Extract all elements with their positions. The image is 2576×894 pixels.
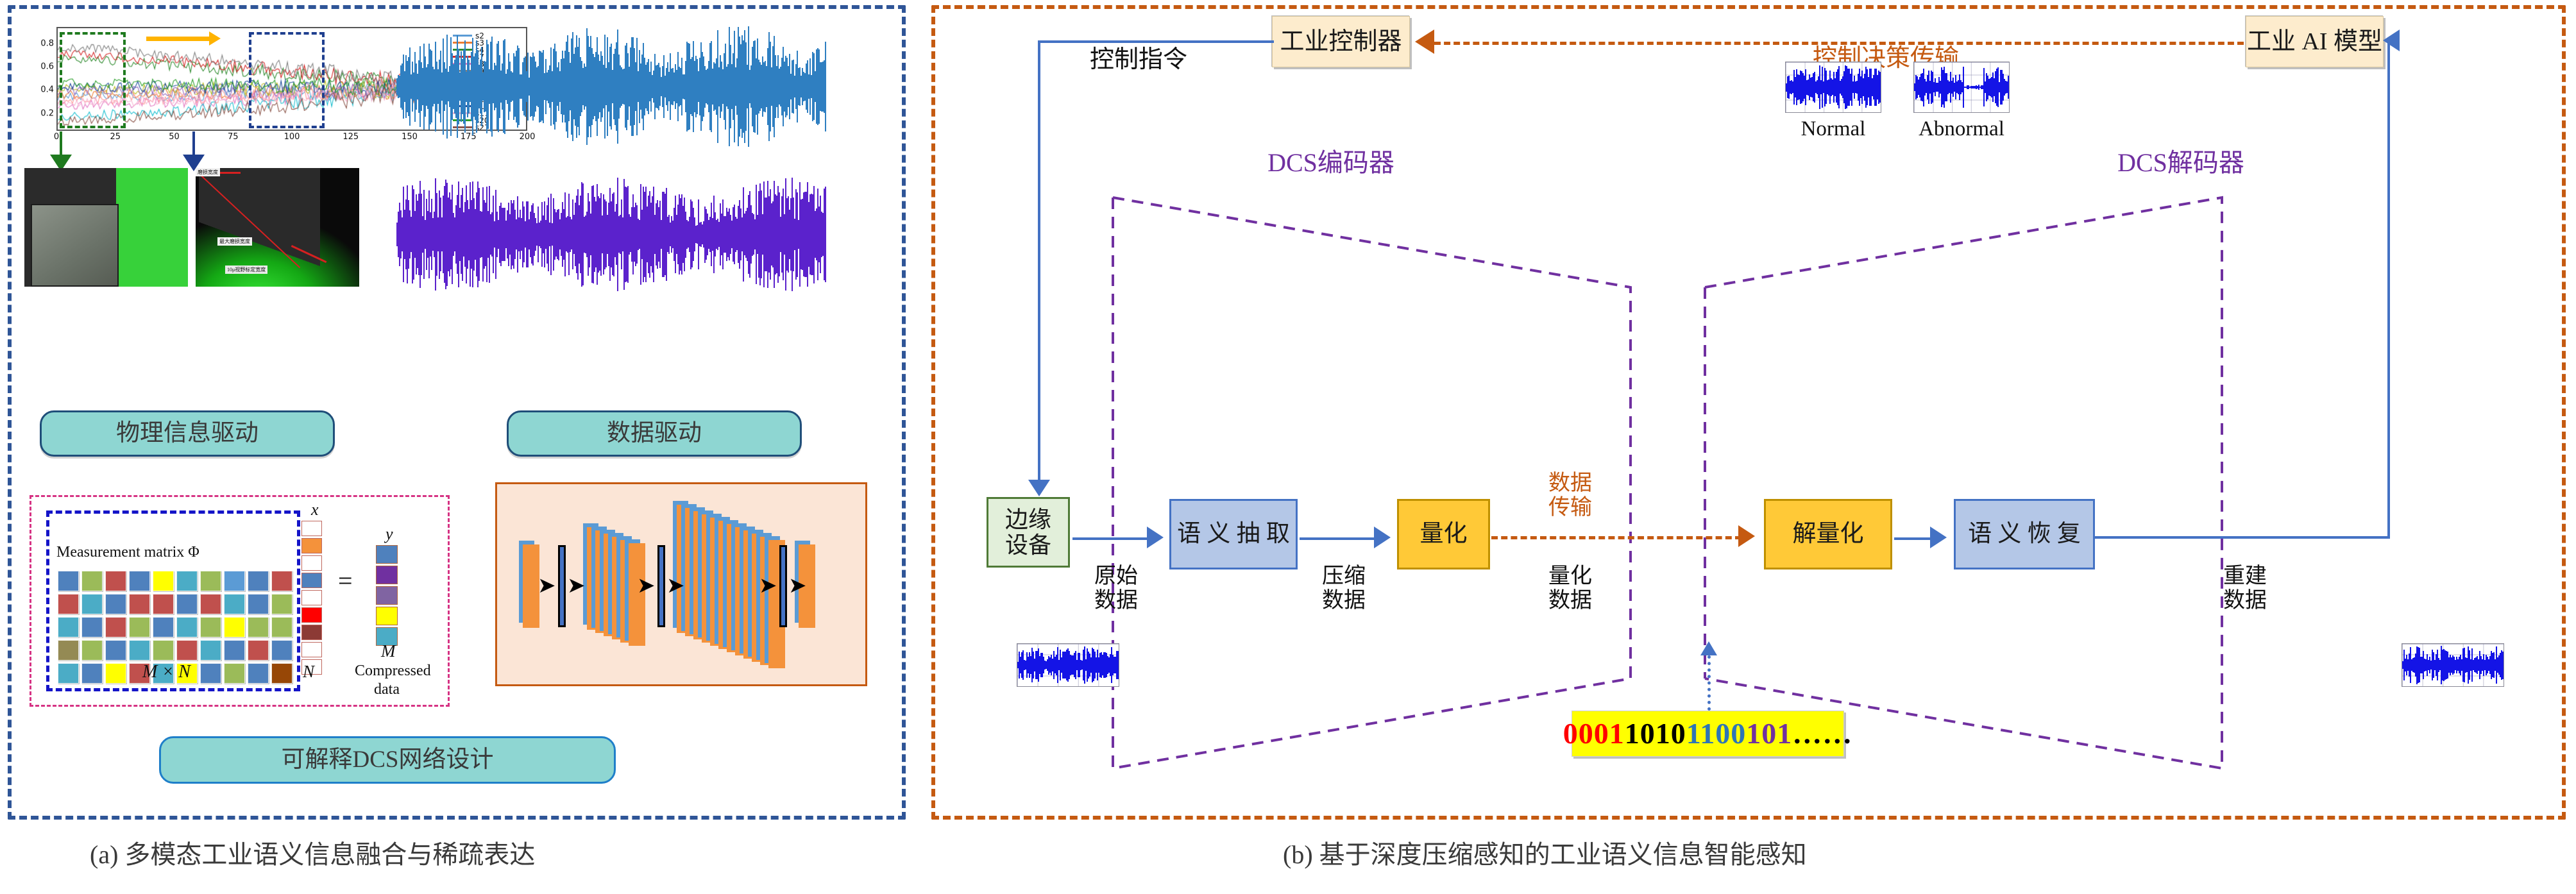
matrix-cell: [81, 594, 103, 614]
abnormal-waveform-thumb: [1913, 62, 2010, 113]
chart-x-tick: 0: [54, 132, 59, 142]
matrix-cell: [248, 594, 269, 614]
matrix-cell: [200, 663, 221, 684]
control-command-flow-horizontal: [1038, 40, 1274, 43]
measurement-matrix-dims: M × N: [142, 662, 191, 682]
matrix-cell: [224, 640, 245, 661]
matrix-cell: [271, 663, 292, 684]
label-dcs-encoder: DCS编码器: [1241, 149, 1421, 178]
normal-waveform-thumb: [1785, 62, 1881, 113]
extract-to-quantize-line: [1300, 537, 1375, 540]
matrix-cell: [129, 571, 150, 591]
label-reconstructed-data: 重建 数据: [2207, 564, 2284, 613]
chart-x-tick: 25: [110, 132, 121, 142]
chart-y-tick: 0.6: [40, 62, 54, 72]
chart-y-tick: 0.2: [40, 108, 54, 118]
label-data-transmission: 数据 传输: [1532, 471, 1609, 520]
nn-layer-bar: [558, 545, 566, 627]
quantization-box[interactable]: 量化: [1397, 499, 1490, 569]
label-control-command: 控制指令: [1055, 46, 1222, 74]
raw-signal-thumb: [1017, 643, 1119, 687]
matrix-cell: [176, 571, 198, 591]
m-label: M: [381, 641, 396, 661]
control-decision-flow: [1434, 42, 2244, 45]
matrix-cell: [248, 640, 269, 661]
matrix-cell: [129, 617, 150, 637]
matrix-cell: [176, 640, 198, 661]
degradation-trend-arrowhead: [209, 31, 221, 46]
label-dcs-network-design: 可解释DCS网络设计: [159, 736, 616, 784]
waveform-trace: [2402, 644, 2504, 686]
matrix-cell: [105, 663, 126, 684]
data-transmission-link: [1491, 536, 1741, 539]
matrix-cell: [81, 640, 103, 661]
matrix-cell: [105, 640, 126, 661]
matrix-cell: [271, 594, 292, 614]
vibration-waveform-blue: [396, 19, 826, 154]
matrix-cell: [200, 640, 221, 661]
waveform-trace: [1914, 62, 2009, 112]
matrix-cell: [224, 594, 245, 614]
y-vector-label: y: [386, 525, 393, 544]
caption-panel-b: (b) 基于深度压缩感知的工业语义信息智能感知: [1283, 834, 1807, 871]
y-vector-cell: [376, 607, 398, 625]
specimen-region: [31, 204, 119, 287]
label-physics-driven: 物理信息驱动: [40, 410, 335, 457]
measurement-matrix-title: Measurement matrix Φ: [56, 544, 199, 561]
data-transmission-arrow: [1738, 525, 1755, 547]
chart-x-tick: 50: [169, 132, 180, 142]
bitstream-segment-3: 1100: [1686, 717, 1746, 750]
matrix-cell: [129, 594, 150, 614]
x-vector-cell: [301, 625, 322, 640]
control-decision-arrowhead: [1415, 30, 1434, 54]
late-window-box: [249, 32, 325, 128]
restore-output-line: [2095, 536, 2390, 539]
matrix-cell: [248, 571, 269, 591]
caption-panel-a: (a) 多模态工业语义信息融合与稀疏表达: [90, 834, 535, 871]
matrix-cell: [248, 663, 269, 684]
reconstructed-signal-thumb: [2402, 643, 2504, 687]
bitstream-segment-1: 0001: [1563, 717, 1625, 750]
industrial-controller-box[interactable]: 工业控制器: [1272, 16, 1410, 67]
matrix-cell: [81, 663, 103, 684]
x-vector: [301, 521, 322, 675]
semantic-extraction-box[interactable]: 语 义 抽 取: [1169, 499, 1298, 569]
waveform-sample: [825, 187, 826, 282]
matrix-cell: [58, 594, 79, 614]
label-compressed-data: 压缩 数据: [1305, 564, 1382, 613]
early-window-box: [60, 32, 126, 128]
bitstream-ellipsis: ……: [1792, 717, 1852, 750]
x-vector-cell: [301, 521, 322, 536]
restore-to-ai-vertical: [2387, 42, 2390, 537]
control-command-flow-vertical: [1038, 40, 1040, 482]
x-vector-cell: [301, 573, 322, 588]
matrix-cell: [105, 617, 126, 637]
nn-flow-arrow: ➤: [538, 575, 556, 597]
matrix-cell: [200, 617, 221, 637]
early-window-connector: [60, 131, 62, 156]
matrix-cell: [271, 640, 292, 661]
matrix-cell: [153, 571, 174, 591]
matrix-cell: [271, 571, 292, 591]
figure-root: 0.20.40.60.8 s2s3s4s7s8s9s11s12s13s14s15…: [0, 0, 2576, 894]
nn-flow-arrow: ➤: [637, 575, 656, 597]
annotation-tag-2: 最大磨损宽度: [217, 237, 252, 246]
label-quantized-data: 量化 数据: [1532, 564, 1609, 613]
matrix-cell: [58, 663, 79, 684]
matrix-cell: [153, 594, 174, 614]
chart-x-tick: 125: [343, 132, 359, 142]
matrix-cell: [271, 617, 292, 637]
x-vector-cell: [301, 538, 322, 553]
matrix-cell: [105, 571, 126, 591]
ai-input-feed: [2387, 40, 2390, 43]
chart-y-tick: 0.4: [40, 85, 54, 95]
matrix-cell: [224, 571, 245, 591]
specimen-photo: [24, 168, 188, 287]
industrial-ai-model-box[interactable]: 工业 AI 模型: [2246, 16, 2384, 67]
label-abnormal: Abnormal: [1901, 117, 2022, 141]
x-vector-cell: [301, 642, 322, 657]
matrix-cell: [200, 594, 221, 614]
chart-y-axis: 0.20.40.60.8: [24, 27, 54, 131]
control-command-arrowhead: [1028, 480, 1050, 496]
nn-layer-bar: [657, 545, 665, 627]
label-normal: Normal: [1775, 117, 1891, 141]
bitstream-box: 000110101100101……: [1572, 711, 1844, 757]
chart-y-tick: 0.8: [40, 38, 54, 48]
bitstream-callout-arrow: [1700, 641, 1717, 655]
semantic-restoration-box[interactable]: 语 义 恢 复: [1954, 499, 2095, 569]
label-raw-data: 原始 数据: [1078, 564, 1155, 613]
edge-to-extract-arrow: [1147, 527, 1164, 548]
waveform-sample: [1117, 651, 1119, 679]
degradation-trend-arrow: [146, 37, 209, 41]
waveform-trace: [1786, 62, 1881, 112]
matrix-cell: [224, 617, 245, 637]
bitstream-segment-4: 101: [1746, 717, 1792, 750]
matrix-cell: [176, 617, 198, 637]
edge-device-box[interactable]: 边缘 设备: [987, 497, 1070, 568]
bitstream-callout-line: [1707, 655, 1711, 711]
waveform-trace: [1017, 644, 1119, 686]
waveform-sample: [2008, 76, 2009, 99]
chart-x-tick: 100: [284, 132, 300, 142]
equals-sign: =: [338, 566, 353, 596]
y-vector-cell: [376, 586, 398, 605]
y-vector-cell: [376, 545, 398, 564]
waveform-sample: [1879, 72, 1881, 103]
compressed-data-label-2: data: [374, 681, 400, 698]
matrix-cell: [248, 617, 269, 637]
matrix-cell: [129, 640, 150, 661]
ai-model-input-arrow: [2383, 30, 2400, 51]
x-vector-label: x: [311, 500, 319, 519]
edge-to-extract-line: [1072, 537, 1148, 540]
y-vector-cell: [376, 566, 398, 584]
dequant-to-restore-line: [1894, 537, 1931, 540]
dequant-to-restore-arrow: [1930, 527, 1947, 548]
annotation-tag-1: 磨损宽度: [196, 168, 220, 176]
matrix-cell: [81, 617, 103, 637]
matrix-cell: [153, 617, 174, 637]
panel-b-frame: [931, 5, 2566, 820]
matrix-cell: [105, 594, 126, 614]
waveform-sample: [825, 42, 826, 131]
matrix-cell: [176, 594, 198, 614]
nn-flow-arrow: ➤: [788, 575, 807, 597]
chart-x-tick: 75: [228, 132, 239, 142]
matrix-cell: [58, 640, 79, 661]
tool-silhouette: [199, 168, 320, 282]
y-vector: [376, 545, 398, 646]
nn-layer-bar: [779, 545, 787, 627]
waveform-sample: [2502, 652, 2504, 679]
vibration-waveform-purple: [396, 172, 826, 297]
matrix-cell: [153, 640, 174, 661]
annotation-scale-tag: 10μ视野标定宽度: [225, 266, 267, 274]
bitstream-segment-2: 1010: [1625, 717, 1686, 750]
matrix-cell: [81, 571, 103, 591]
tool-wear-photo: 磨损宽度 最大磨损宽度 10μ视野标定宽度: [196, 168, 359, 287]
x-vector-cell: [301, 607, 322, 623]
nn-flow-arrow: ➤: [567, 575, 586, 597]
matrix-cell: [58, 571, 79, 591]
matrix-cell: [200, 571, 221, 591]
dcs-network-illustration: ➤➤➤➤➤➤: [495, 482, 867, 686]
nn-flow-arrow: ➤: [759, 575, 777, 597]
n-label: N: [303, 662, 314, 682]
x-vector-cell: [301, 555, 322, 571]
compressed-data-label-1: Compressed: [355, 662, 431, 680]
label-data-driven: 数据驱动: [507, 410, 802, 457]
nn-flow-arrow: ➤: [666, 575, 685, 597]
x-vector-cell: [301, 590, 322, 605]
matrix-cell: [224, 663, 245, 684]
extract-to-quantize-arrow: [1374, 527, 1391, 548]
label-dcs-decoder: DCS解码器: [2091, 149, 2271, 178]
late-window-connector: [192, 131, 195, 156]
dequantization-box[interactable]: 解量化: [1764, 499, 1892, 569]
matrix-cell: [58, 617, 79, 637]
